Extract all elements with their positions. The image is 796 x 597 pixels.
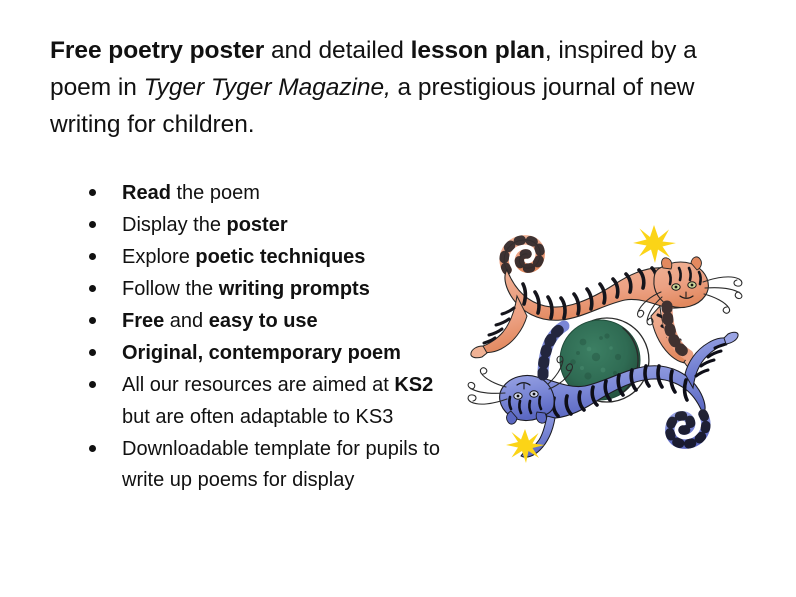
whiskers-right — [703, 277, 742, 313]
slide-canvas: Free poetry poster and detailed lesson p… — [0, 0, 796, 597]
bullet-text: Follow the — [122, 278, 219, 300]
bullet-text: and — [164, 310, 208, 332]
heading-italic-magazine-title: Tyger Tyger Magazine, — [144, 74, 391, 101]
two-tigers-moon-illustration — [455, 218, 755, 476]
page-title: Free poetry poster and detailed lesson p… — [50, 32, 762, 143]
bullet-text: but are often adaptable to KS3 — [122, 406, 393, 428]
bullet-text: the poem — [171, 182, 260, 204]
star-top-right-icon — [633, 225, 676, 263]
list-item: Original, contemporary poem — [86, 338, 456, 370]
bullet-dot-icon — [89, 317, 96, 324]
list-item: Downloadable template for pupils to writ… — [86, 434, 456, 497]
bullet-bold-tail: poetic techniques — [195, 246, 365, 268]
bullet-text: Explore — [122, 246, 195, 268]
bullet-bold-tail: poster — [227, 214, 288, 236]
bullet-bold-ks2: KS2 — [394, 374, 433, 396]
list-item: Explore poetic techniques — [86, 242, 456, 274]
bullet-dot-icon — [89, 221, 96, 228]
star-bottom-left-icon — [506, 429, 545, 463]
bullet-dot-icon — [89, 445, 96, 452]
list-item: Follow the writing prompts — [86, 274, 456, 306]
heading-bold-free-poetry-poster: Free poetry poster — [50, 37, 264, 64]
feature-bullet-list: Read the poem Display the poster Explore… — [86, 178, 456, 497]
bullet-dot-icon — [89, 285, 96, 292]
list-item: Free and easy to use — [86, 306, 456, 338]
bullet-text: All our resources are aimed at — [122, 374, 394, 396]
list-item: Display the poster — [86, 210, 456, 242]
bullet-text: Display the — [122, 214, 227, 236]
bullet-bold-lead: Free — [122, 310, 164, 332]
bullet-dot-icon — [89, 253, 96, 260]
bullet-dot-icon — [89, 189, 96, 196]
bullet-bold-tail: easy to use — [209, 310, 318, 332]
bullet-bold-lead: Original, contemporary poem — [122, 342, 401, 364]
heading-bold-lesson-plan: lesson plan — [411, 37, 545, 64]
bullet-dot-icon — [89, 349, 96, 356]
bullet-text: Downloadable template for pupils to writ… — [122, 438, 440, 492]
heading-text-and-detailed: and detailed — [264, 37, 410, 64]
bullet-bold-tail: writing prompts — [219, 278, 370, 300]
list-item: All our resources are aimed at KS2 but a… — [86, 370, 456, 433]
bullet-dot-icon — [89, 381, 96, 388]
list-item: Read the poem — [86, 178, 456, 210]
tigers-illustration-svg — [455, 218, 755, 476]
bullet-bold-lead: Read — [122, 182, 171, 204]
